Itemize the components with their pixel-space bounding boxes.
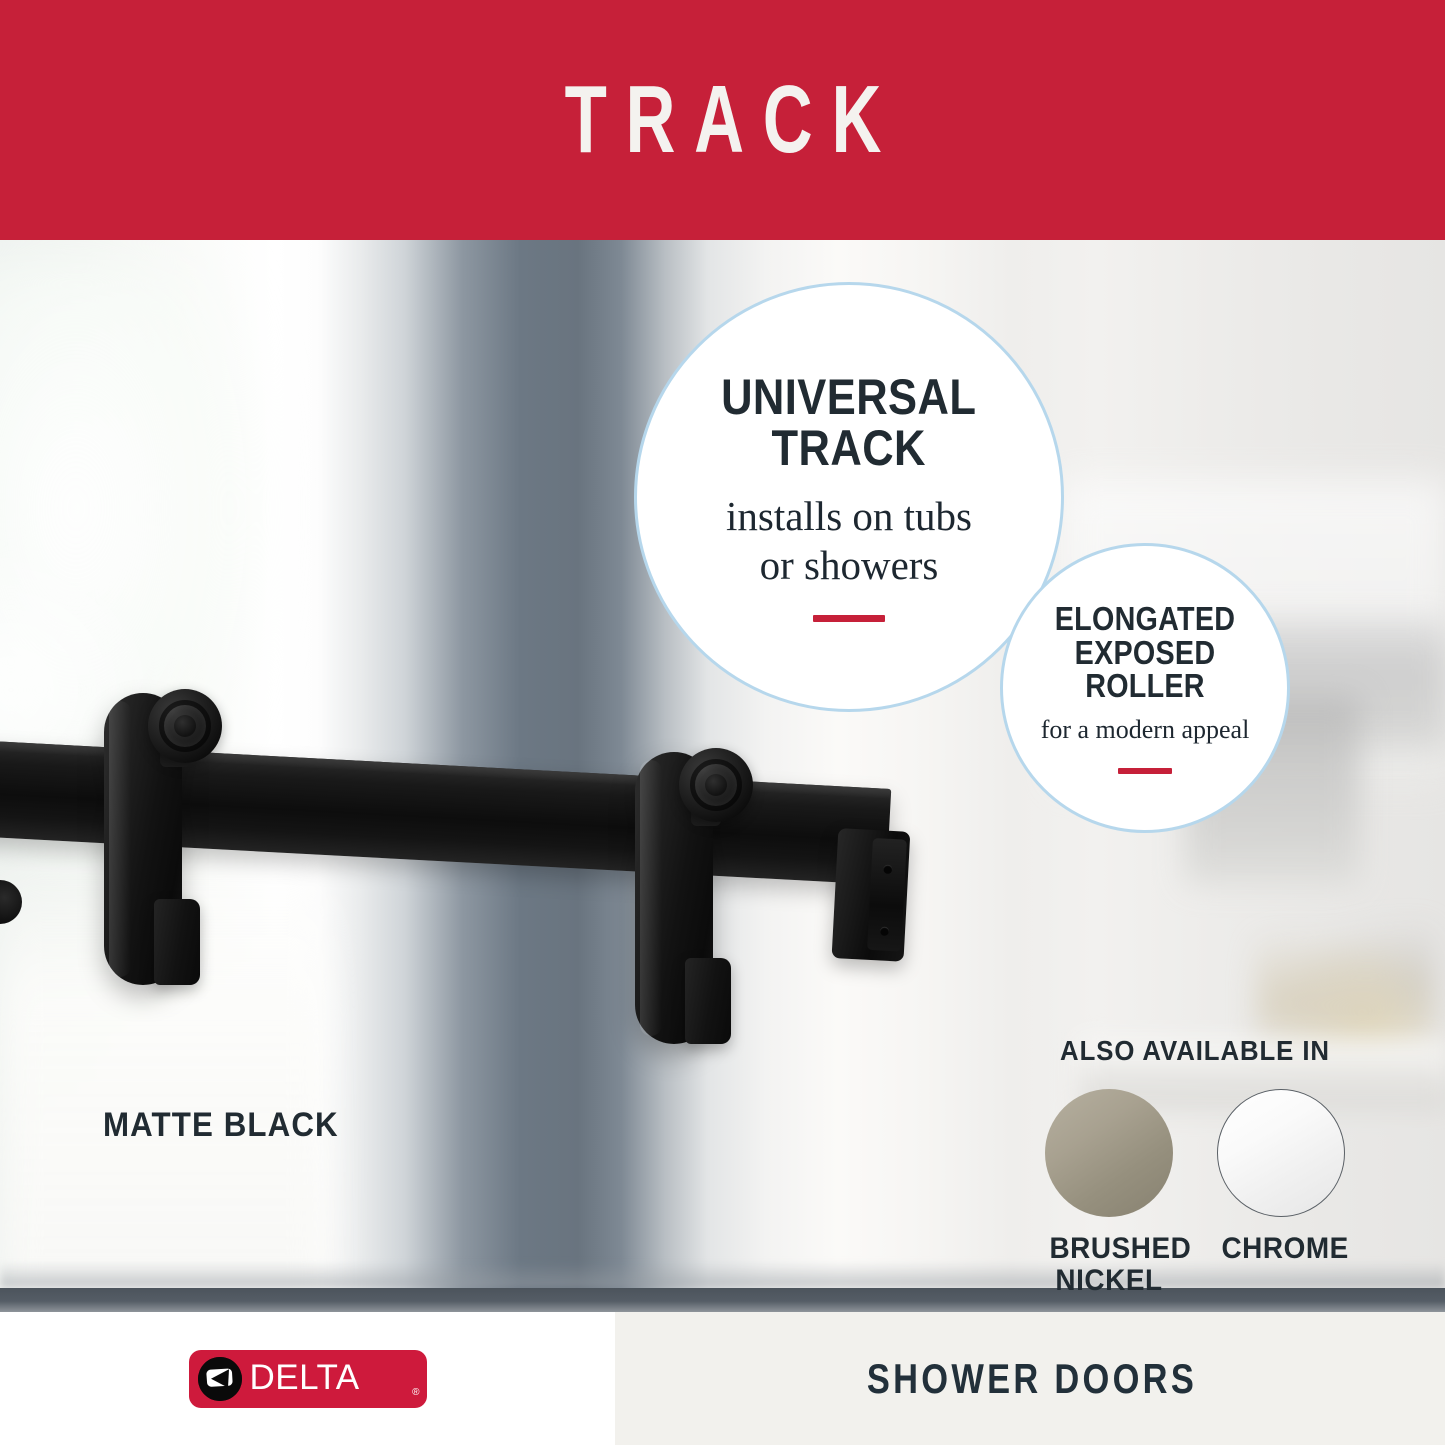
brushed-nickel-swatch[interactable]: [1045, 1089, 1173, 1217]
bracket-hook: [154, 899, 200, 985]
bracket-hook: [685, 958, 731, 1044]
bracket-plate-highlight: [109, 701, 131, 977]
finish-swatch-row: BRUSHED NICKEL CHROME: [1030, 1089, 1360, 1298]
end-cap-screw-hole: [883, 865, 892, 874]
callout-subtext-line1: for a modern appeal: [1041, 715, 1250, 746]
callout-elongated-exposed-roller: ELONGATED EXPOSED ROLLER for a modern ap…: [1000, 543, 1290, 833]
callout-subtext: installs on tubs or showers: [726, 492, 972, 589]
roller-hub: [174, 715, 196, 737]
delta-triangle-icon: [198, 1357, 242, 1401]
callout-accent-dash: [813, 615, 885, 622]
swatch-label-line1: BRUSHED: [1049, 1233, 1168, 1265]
footer-tagline: SHOWER DOORS: [863, 1355, 1196, 1403]
delta-logo[interactable]: DELTA ®: [189, 1350, 427, 1408]
roller-wheel: [679, 748, 753, 822]
swatch-label-line1: CHROME: [1221, 1233, 1340, 1265]
finish-option-brushed-nickel[interactable]: BRUSHED NICKEL: [1045, 1089, 1173, 1298]
callout-heading-line2: TRACK: [721, 423, 976, 474]
bracket-plate-highlight: [640, 760, 662, 1036]
roller-wheel-offscreen: [0, 880, 22, 924]
callout-heading: ELONGATED EXPOSED ROLLER: [1041, 602, 1250, 703]
footer-category-panel: SHOWER DOORS: [615, 1312, 1445, 1445]
swatch-label-line2: NICKEL: [1049, 1265, 1168, 1297]
product-marketing-page: TRACK: [0, 0, 1445, 1445]
callout-subtext: for a modern appeal: [1041, 715, 1250, 746]
callout-heading-line1: ELONGATED: [1041, 602, 1250, 636]
chrome-label: CHROME: [1221, 1233, 1340, 1265]
callout-accent-dash: [1118, 768, 1172, 774]
callout-subtext-line2: or showers: [726, 541, 972, 589]
delta-wordmark: DELTA: [250, 1358, 360, 1398]
callout-heading-line2: EXPOSED ROLLER: [1041, 636, 1250, 703]
end-cap-face: [867, 838, 907, 952]
also-available-title: ALSO AVAILABLE IN: [1043, 1035, 1347, 1067]
callout-heading: UNIVERSAL TRACK: [721, 372, 976, 474]
chrome-swatch[interactable]: [1217, 1089, 1345, 1217]
finish-option-chrome[interactable]: CHROME: [1217, 1089, 1345, 1298]
also-available-section: ALSO AVAILABLE IN BRUSHED NICKEL CHROME: [1030, 1035, 1360, 1298]
callout-subtext-line1: installs on tubs: [726, 492, 972, 540]
registered-mark-icon: ®: [412, 1387, 419, 1398]
brushed-nickel-label: BRUSHED NICKEL: [1049, 1233, 1168, 1298]
roller-hub: [705, 774, 727, 796]
header-banner: TRACK: [0, 0, 1445, 240]
track-end-cap: [832, 828, 911, 962]
footer: DELTA ® SHOWER DOORS: [0, 1312, 1445, 1445]
footer-brand-panel: DELTA ®: [0, 1312, 615, 1445]
callout-heading-line1: UNIVERSAL: [721, 372, 976, 423]
page-title: TRACK: [545, 72, 899, 168]
end-cap-screw-hole: [880, 926, 889, 935]
roller-wheel: [148, 689, 222, 763]
shown-finish-label: MATTE BLACK: [103, 1106, 339, 1145]
callout-universal-track: UNIVERSAL TRACK installs on tubs or show…: [634, 282, 1064, 712]
